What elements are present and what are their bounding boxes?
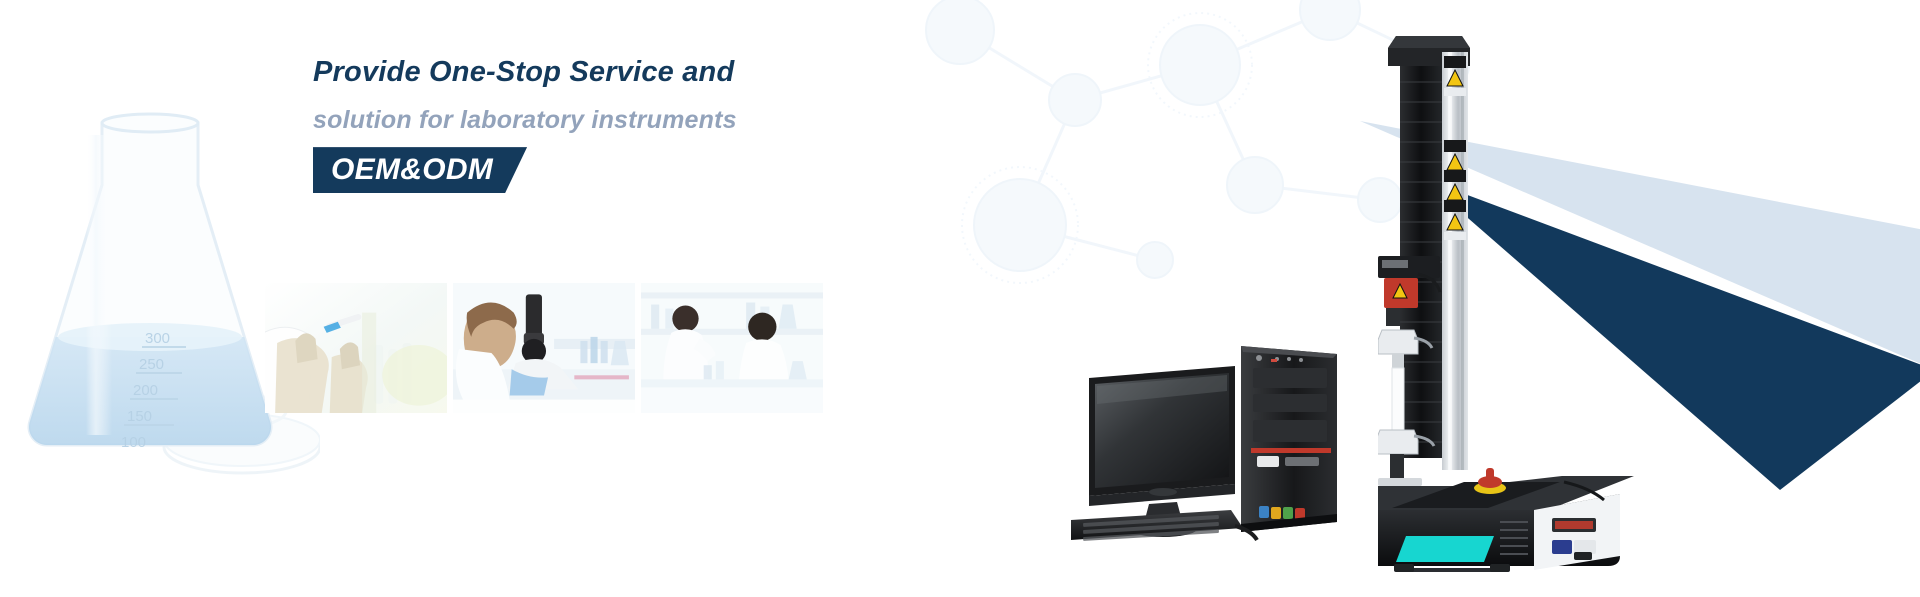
oem-odm-badge: OEM&ODM (313, 147, 527, 193)
photo-pipetting-gloved-hands (265, 283, 447, 413)
svg-text:250: 250 (139, 356, 164, 373)
photo-microscope-researcher (453, 283, 635, 413)
headline-line-2: solution for laboratory instruments (313, 106, 933, 135)
decorative-triangles (1360, 120, 1920, 490)
lab-photo-strip (265, 283, 823, 413)
svg-text:300: 300 (145, 330, 170, 347)
svg-text:150: 150 (127, 408, 152, 425)
headline-line-1: Provide One-Stop Service and (313, 56, 933, 89)
photo-lab-technicians (641, 283, 823, 413)
headline-block: Provide One-Stop Service and solution fo… (313, 56, 933, 193)
hero-banner: 300 250 200 150 100 Provide One-Stop Ser… (0, 0, 1920, 597)
svg-text:200: 200 (133, 382, 158, 399)
svg-text:100: 100 (121, 434, 146, 451)
desktop-computer-workstation (1045, 340, 1375, 545)
universal-testing-machine (1378, 12, 1638, 572)
molecule-watermark-icon (900, 0, 1520, 300)
